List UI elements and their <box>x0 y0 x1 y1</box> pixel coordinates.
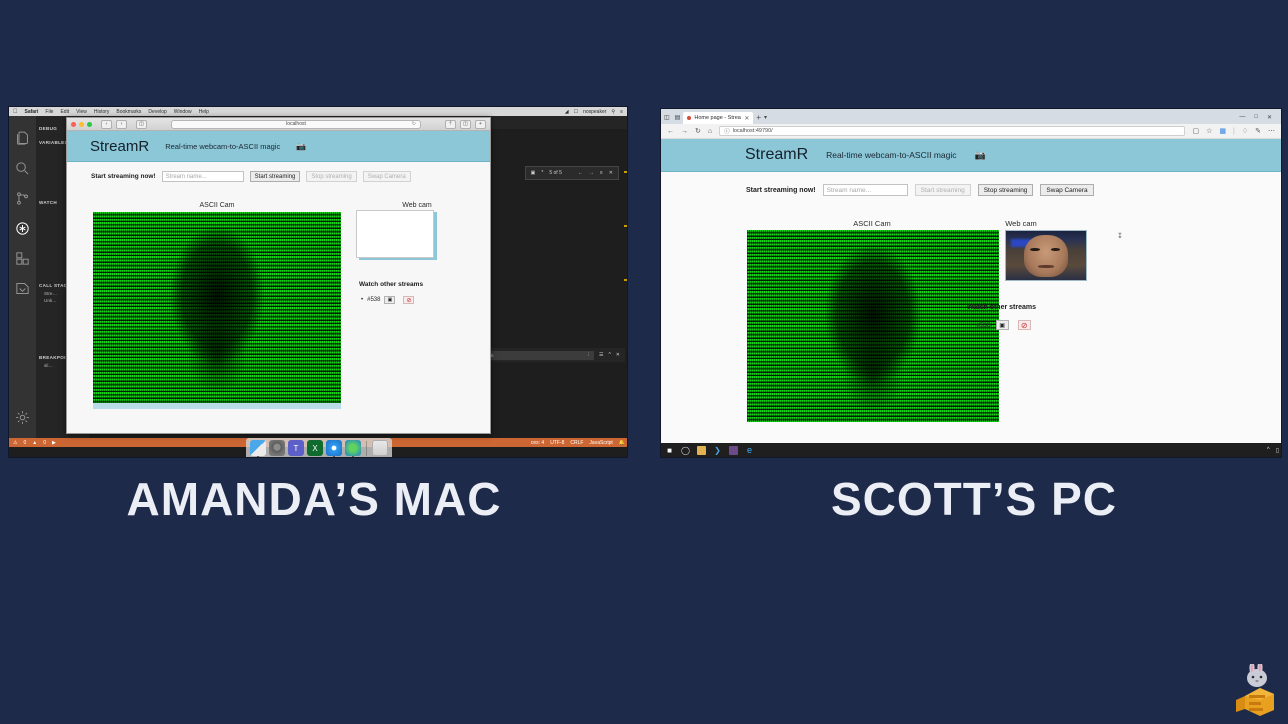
vscode-icon[interactable]: X <box>307 440 323 456</box>
mac-screenshot:  Safari File Edit View History Bookmark… <box>8 106 628 458</box>
stream-name-input[interactable]: Stream name... <box>823 184 908 196</box>
favorites-icon[interactable]: ♢ <box>1242 127 1248 135</box>
mac-menu-bar[interactable]:  Safari File Edit View History Bookmark… <box>9 107 627 116</box>
webcam-right-eye <box>1051 248 1061 251</box>
close-icon[interactable]: ✕ <box>744 115 749 122</box>
control-center-icon[interactable]: ≡ <box>620 109 623 115</box>
mac-dock[interactable]: T X <box>9 437 628 457</box>
plus-icon[interactable]: + <box>475 120 486 129</box>
maximize-icon[interactable] <box>87 122 92 127</box>
arrow-right-icon[interactable]: → <box>589 170 594 176</box>
gear-icon[interactable] <box>14 409 31 426</box>
selection-icon[interactable]: ▣ <box>531 170 536 176</box>
ascii-cam-view <box>93 212 341 403</box>
search-icon[interactable]: ⚲ <box>611 109 615 115</box>
app-tagline: Real-time webcam-to-ASCII magic <box>165 142 280 151</box>
vscode-activity-bar[interactable] <box>9 116 36 438</box>
chevron-down-icon[interactable]: ▾ <box>764 114 767 124</box>
clear-console-icon[interactable]: ☰ <box>599 352 603 358</box>
arrow-right-icon[interactable]: → <box>681 128 688 135</box>
swap-camera-button[interactable]: Swap Camera <box>1040 184 1093 196</box>
ascii-texture <box>747 230 999 422</box>
regex-icon[interactable]: * <box>541 170 543 176</box>
page-info-icon: ⓘ <box>724 127 730 135</box>
chevron-down-icon: ⋮ <box>586 352 591 358</box>
extensions-icon[interactable] <box>14 250 31 267</box>
edge-tab-strip[interactable]: ◫ ▤ Home page - Strea ✕ + ▾ — □ ✕ <box>661 109 1281 124</box>
collections-icon[interactable]: ▦ <box>1219 127 1226 135</box>
menu-item-edit[interactable]: Edit <box>60 109 69 115</box>
webcam-view <box>356 210 434 258</box>
ascii-cam-view <box>747 230 999 422</box>
bunny-logo <box>1232 664 1278 716</box>
app-banner: StreamR Real-time webcam-to-ASCII magic … <box>661 139 1281 172</box>
home-icon[interactable]: ⌂ <box>708 128 712 135</box>
swap-camera-button: Swap Camera <box>363 171 411 182</box>
app-banner: StreamR Real-time webcam-to-ASCII magic … <box>67 131 490 162</box>
chevron-right-icon[interactable]: › <box>116 120 127 129</box>
window-traffic-lights[interactable] <box>71 122 92 127</box>
find-match-count: 5 of 5 <box>549 170 562 176</box>
start-streaming-button[interactable]: Start streaming <box>250 171 301 182</box>
cortana-icon[interactable]: ◯ <box>681 446 690 455</box>
app-title: StreamR <box>90 138 149 155</box>
mouse-cursor: ↧ <box>1117 232 1123 240</box>
webcam-label: Web cam <box>966 219 1076 228</box>
reload-icon[interactable]: ↻ <box>695 127 701 135</box>
edge-icon[interactable]: e <box>745 446 754 455</box>
minimize-icon[interactable]: — <box>1239 114 1245 121</box>
remote-icon[interactable] <box>14 280 31 297</box>
camera-icon[interactable]: ▣ <box>996 320 1009 330</box>
edge-toolbar[interactable]: ← → ↻ ⌂ ⓘ localhost:49790/ ▢ ☆ ▦ | ♢ ✎ ⋯ <box>661 124 1281 139</box>
vscode-overview-ruler[interactable] <box>623 129 628 438</box>
streaming-controls: Start streaming now! Stream name... Star… <box>67 162 490 182</box>
start-icon[interactable]: ■ <box>665 446 674 455</box>
app-body: Start streaming now! Stream name... Star… <box>67 162 490 434</box>
bullet-icon: • <box>361 297 363 303</box>
share-icon[interactable]: ⇡ <box>445 120 456 129</box>
arrow-left-icon[interactable]: ← <box>578 170 583 176</box>
menu-item-bookmarks[interactable]: Bookmarks <box>116 109 141 115</box>
safari-address-bar[interactable]: localhost ↻ <box>171 120 421 129</box>
trash-icon[interactable] <box>372 440 388 456</box>
start-streaming-button: Start streaming <box>915 184 971 196</box>
debug-icon[interactable] <box>14 220 31 237</box>
camera-emoji-icon: 📷 <box>975 150 986 161</box>
caption-left: AMANDA’S MAC <box>0 472 628 526</box>
close-icon[interactable]: ✕ <box>609 170 613 176</box>
close-icon[interactable]: ✕ <box>1267 114 1272 121</box>
more-icon[interactable]: ⋯ <box>1268 127 1275 135</box>
wifi-icon[interactable]: ◢ <box>565 109 569 115</box>
star-icon[interactable]: ☆ <box>1206 127 1212 135</box>
edge-address-bar[interactable]: ⓘ localhost:49790/ <box>719 126 1185 136</box>
reload-icon[interactable]: ↻ <box>412 121 416 127</box>
stream-id: #538 <box>976 322 990 329</box>
app-tagline: Real-time webcam-to-ASCII magic <box>826 150 956 160</box>
close-icon[interactable] <box>71 122 76 127</box>
apple-logo-icon[interactable]:  <box>13 109 18 115</box>
arrow-left-icon[interactable]: ← <box>667 128 674 135</box>
no-entry-icon[interactable]: ⊘ <box>403 296 414 304</box>
stop-streaming-button[interactable]: Stop streaming <box>978 184 1034 196</box>
tab-title: Home page - Strea <box>694 115 740 121</box>
webcam-label: Web cam <box>377 202 457 209</box>
notes-icon[interactable]: ✎ <box>1255 127 1261 135</box>
plus-icon[interactable]: + <box>756 113 761 124</box>
chevron-left-icon[interactable]: ‹ <box>101 120 112 129</box>
stream-id: #538 <box>367 297 380 303</box>
show-desktop-icon[interactable]: ▯ <box>1276 447 1279 454</box>
tabs-icon[interactable]: ◫ <box>460 120 471 129</box>
webcam-face <box>1024 235 1069 277</box>
sidebar-icon[interactable]: ◫ <box>136 120 147 129</box>
menu-item-develop[interactable]: Develop <box>148 109 166 115</box>
files-icon[interactable] <box>14 130 31 147</box>
stop-streaming-button: Stop streaming <box>306 171 356 182</box>
no-entry-icon[interactable]: ⊘ <box>1018 320 1031 330</box>
search-icon[interactable] <box>14 160 31 177</box>
app-body: Start streaming now! Stream name... Star… <box>661 172 1281 458</box>
find-in-selection-icon[interactable]: ≡ <box>600 170 603 176</box>
safari-toolbar[interactable]: ‹ › ◫ localhost ↻ ⇡ ◫ + <box>67 118 490 131</box>
bullet-icon: • <box>969 322 971 329</box>
menu-item-file[interactable]: File <box>45 109 53 115</box>
tab-preview-icon[interactable]: ▤ <box>675 114 681 121</box>
menu-item-help[interactable]: Help <box>199 109 209 115</box>
safari-window[interactable]: ‹ › ◫ localhost ↻ ⇡ ◫ + StreamR Real-tim… <box>66 117 491 434</box>
close-icon[interactable]: ✕ <box>616 352 620 358</box>
watch-streams-label: Watch other streams <box>967 304 1036 311</box>
camera-icon[interactable]: ▣ <box>384 296 395 304</box>
webcam-left-eye <box>1030 248 1040 251</box>
display-icon[interactable]: ☐ <box>574 109 578 115</box>
reading-view-icon[interactable]: ▢ <box>1192 127 1199 135</box>
start-streaming-label: Start streaming now! <box>91 173 156 180</box>
vscode-icon[interactable]: ❯ <box>713 446 722 455</box>
windows-taskbar[interactable]: ■ ◯ ❯ e ^ ▯ <box>661 443 1282 457</box>
system-preferences-icon[interactable] <box>269 440 285 456</box>
safari-icon[interactable] <box>326 440 342 456</box>
watch-streams-label: Watch other streams <box>359 281 423 288</box>
list-item: • #538 ▣ ⊘ <box>361 296 414 304</box>
menu-item-window[interactable]: Window <box>174 109 192 115</box>
browser-tab[interactable]: Home page - Strea ✕ <box>683 112 753 124</box>
ascii-scrollbar[interactable] <box>93 403 341 409</box>
file-explorer-icon[interactable] <box>697 446 706 455</box>
dock-divider <box>366 441 367 456</box>
vscode-find-widget[interactable]: ▣ * 5 of 5 ← → ≡ ✕ <box>525 166 619 180</box>
source-control-icon[interactable] <box>14 190 31 207</box>
tab-actions-icon[interactable]: ◫ <box>664 114 670 121</box>
teams-icon[interactable]: T <box>288 440 304 456</box>
finder-icon[interactable] <box>250 440 266 456</box>
webcam-view <box>1005 230 1087 281</box>
terminal-icon[interactable] <box>729 446 738 455</box>
maximize-icon[interactable]: □ <box>1254 114 1258 121</box>
app-title: StreamR <box>745 146 808 164</box>
streaming-controls: Start streaming now! Stream name... Star… <box>661 172 1281 196</box>
caption-right: SCOTT’S PC <box>660 472 1288 526</box>
stream-name-input[interactable]: Stream name... <box>162 171 244 182</box>
chevron-up-icon[interactable]: ^ <box>608 352 610 358</box>
menu-item-history[interactable]: History <box>94 109 110 115</box>
start-streaming-label: Start streaming now! <box>746 187 816 194</box>
tab-favicon-icon <box>687 116 691 120</box>
ascii-cam-label: ASCII Cam <box>92 202 342 209</box>
minimize-icon[interactable] <box>79 122 84 127</box>
chevron-up-icon[interactable]: ^ <box>1267 447 1270 453</box>
list-item: • #538 ▣ ⊘ <box>969 320 1031 330</box>
menubar-user-name[interactable]: nospeaker <box>583 109 606 115</box>
edge-url-text: localhost:49790/ <box>733 128 773 134</box>
presentation-slide:  Safari File Edit View History Bookmark… <box>0 0 1288 724</box>
menu-item-view[interactable]: View <box>76 109 87 115</box>
camera-emoji-icon: 📷 <box>296 142 306 151</box>
pc-screenshot: ◫ ▤ Home page - Strea ✕ + ▾ — □ ✕ ← → ↻ … <box>660 108 1282 458</box>
safari-url-text: localhost <box>286 121 306 127</box>
ascii-texture <box>93 212 341 403</box>
ascii-cam-label: ASCII Cam <box>746 219 998 228</box>
excel-icon[interactable] <box>345 440 361 456</box>
menu-item-safari[interactable]: Safari <box>25 109 39 115</box>
